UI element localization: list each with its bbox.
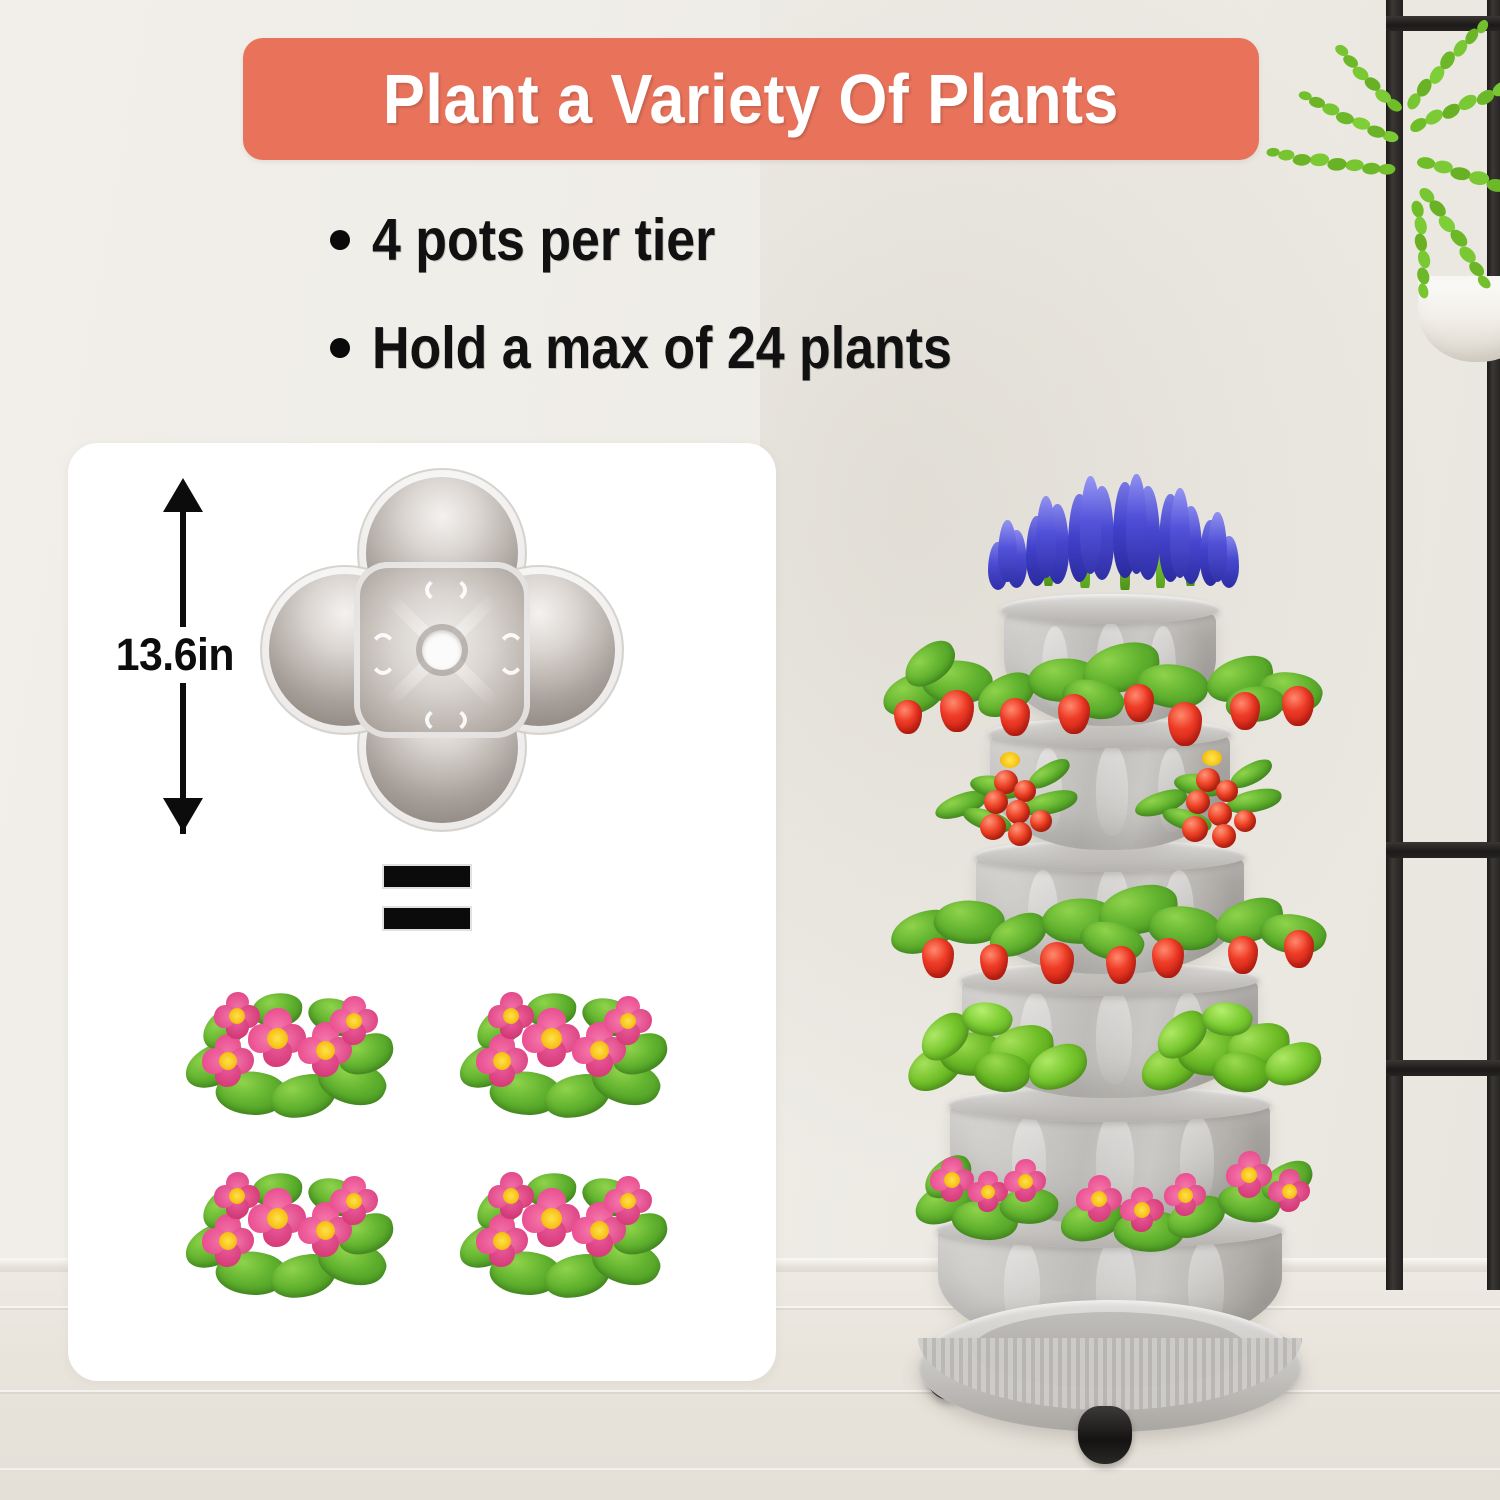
- cherry-tomato: [984, 790, 1008, 814]
- tomato-planting: [930, 744, 1300, 864]
- cherry-tomato: [1216, 780, 1238, 802]
- primrose-flower: [202, 1035, 254, 1087]
- primrose-flower: [214, 1173, 260, 1219]
- primrose-cluster-3: [178, 1155, 398, 1300]
- bullet-dot-icon: [330, 338, 350, 358]
- primrose-flower: [1004, 1160, 1046, 1202]
- planter-tower: [900, 440, 1320, 1460]
- shelf-rail-lower: [1386, 1060, 1500, 1076]
- caster-wheel-front: [1078, 1406, 1132, 1464]
- list-item: Hold a max of 24 plants: [330, 314, 1190, 382]
- primrose-flower: [330, 1177, 378, 1225]
- cherry-tomato: [1208, 802, 1232, 826]
- cherry-tomato: [980, 814, 1006, 840]
- basil-planting: [896, 996, 1328, 1112]
- strawberry: [1284, 930, 1314, 968]
- primrose-flower: [1164, 1174, 1206, 1216]
- strawberry: [1106, 946, 1136, 984]
- strawberry: [1228, 936, 1258, 974]
- primrose-cluster-2: [452, 975, 672, 1120]
- cherry-tomato: [1008, 822, 1032, 846]
- dimension-label: 13.6in: [110, 627, 240, 683]
- primrose-flower: [476, 1215, 528, 1267]
- drain-hole: [422, 630, 462, 670]
- strawberry: [894, 700, 922, 734]
- strawberry-planting-upper: [878, 628, 1344, 748]
- strawberry: [1168, 702, 1202, 746]
- pot-slot-bottom: [425, 706, 467, 734]
- shelf-rail-middle: [1386, 842, 1500, 858]
- strawberry: [1282, 686, 1314, 726]
- strawberry: [940, 690, 974, 732]
- primrose-flower: [968, 1172, 1008, 1212]
- feature-list: 4 pots per tier Hold a max of 24 plants: [330, 206, 1190, 422]
- primrose-flower: [330, 997, 378, 1045]
- feature-label-1: 4 pots per tier: [372, 206, 715, 274]
- strawberry: [980, 944, 1008, 980]
- primrose-cluster-1: [178, 975, 398, 1120]
- primrose-flower: [488, 1173, 534, 1219]
- feature-label-2: Hold a max of 24 plants: [372, 314, 952, 382]
- strawberry: [922, 938, 954, 978]
- primrose-flower: [1076, 1176, 1122, 1222]
- list-item: 4 pots per tier: [330, 206, 1190, 274]
- pot-slot-right: [497, 633, 525, 675]
- primrose-flower: [604, 997, 652, 1045]
- page-title: Plant a Variety Of Plants: [383, 59, 1119, 139]
- primrose-cluster-4: [452, 1155, 672, 1300]
- cherry-tomato: [1212, 824, 1236, 848]
- bullet-dot-icon: [330, 230, 350, 250]
- cherry-tomato: [1006, 800, 1030, 824]
- strawberry: [1040, 942, 1074, 984]
- title-banner: Plant a Variety Of Plants: [243, 38, 1259, 160]
- pot-slot-left: [369, 633, 397, 675]
- strawberry: [1124, 684, 1154, 722]
- cherry-tomato: [1014, 780, 1036, 802]
- equals-symbol: [0, 866, 900, 936]
- strawberry-planting-lower: [884, 872, 1340, 990]
- primrose-flower: [1120, 1188, 1164, 1232]
- primrose-flower: [604, 1177, 652, 1225]
- tomato-flower: [1000, 752, 1020, 768]
- primrose-flower: [476, 1035, 528, 1087]
- cherry-tomato: [1030, 810, 1052, 832]
- primrose-flower: [202, 1215, 254, 1267]
- strawberry: [1000, 698, 1030, 736]
- strawberry: [1058, 694, 1090, 734]
- strawberry: [1230, 692, 1260, 730]
- cherry-tomato: [1186, 790, 1210, 814]
- primrose-flower: [1268, 1170, 1310, 1212]
- arrow-head-down-icon: [163, 798, 203, 832]
- primrose-flower: [488, 993, 534, 1039]
- pot-slot-top: [425, 576, 467, 604]
- cherry-tomato: [1234, 810, 1256, 832]
- infographic-canvas: Plant a Variety Of Plants 4 pots per tie…: [0, 0, 1500, 1500]
- cherry-tomato: [1182, 816, 1208, 842]
- tomato-flower: [1202, 750, 1222, 766]
- primrose-flower: [214, 993, 260, 1039]
- strawberry: [1152, 938, 1184, 978]
- boston-fern: [1300, 10, 1500, 310]
- primrose-planting: [908, 1126, 1320, 1252]
- grape-hyacinth-planting: [980, 450, 1244, 600]
- pot-top-view: [262, 470, 622, 830]
- primrose-flower: [1226, 1152, 1272, 1198]
